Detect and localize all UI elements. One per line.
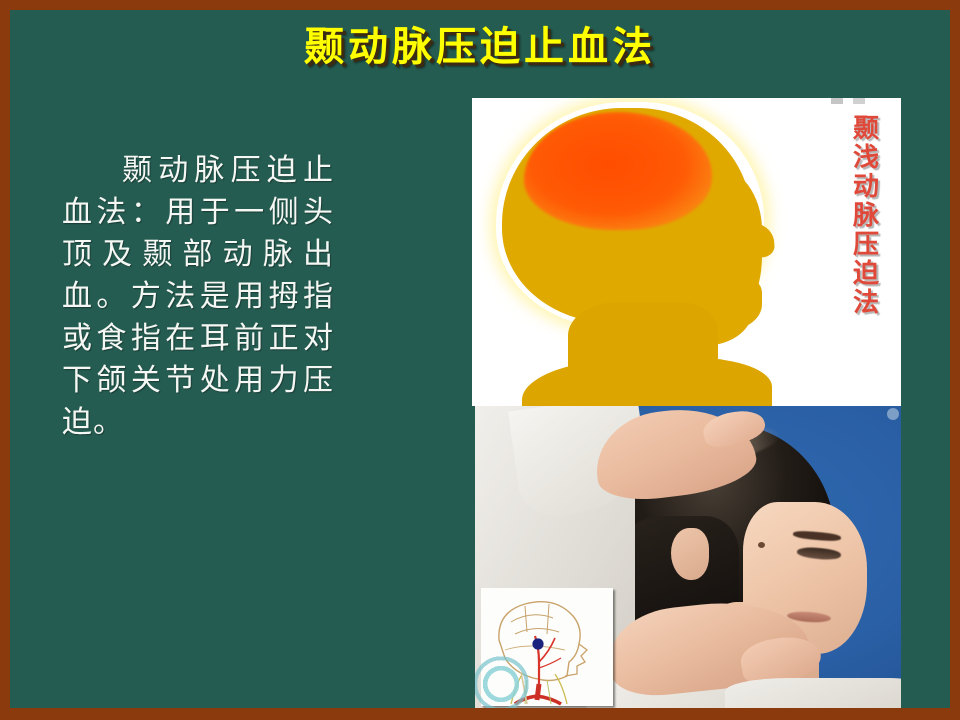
broadcast-logo	[475, 656, 529, 708]
vertical-caption-char-7: 法	[849, 288, 883, 317]
body-paragraph: 颞动脉压迫止血法：用于一侧头顶及颞部动脉出血。方法是用拇指或食指在耳前正对下颌关…	[62, 150, 334, 444]
head-silhouette	[502, 106, 772, 406]
lips-shape	[728, 262, 758, 288]
head-diagram-image: 颞 浅 动 脉 压 迫 法	[472, 98, 901, 406]
shoulder-shape	[522, 358, 772, 406]
slide-canvas: 颞动脉压迫止血法 颞动脉压迫止血法：用于一侧头顶及颞部动脉出血。方法是用拇指或食…	[10, 10, 950, 708]
vertical-caption-char-5: 压	[849, 230, 883, 259]
nose-shape	[731, 221, 775, 260]
scan-artifact-marks	[831, 98, 883, 104]
vertical-caption-char-4: 脉	[849, 201, 883, 230]
vertical-caption-char-6: 迫	[849, 259, 883, 288]
corner-artifact	[887, 408, 899, 420]
vertical-caption: 颞 浅 动 脉 压 迫 法	[849, 114, 883, 317]
subject-ear	[671, 528, 709, 580]
subject-mole	[758, 542, 765, 548]
subject-shirt	[725, 678, 901, 708]
demonstration-photo	[475, 406, 901, 708]
slide-frame: 颞动脉压迫止血法 颞动脉压迫止血法：用于一侧头顶及颞部动脉出血。方法是用拇指或食…	[0, 0, 960, 720]
vertical-caption-char-1: 颞	[849, 114, 883, 143]
vertical-caption-char-3: 动	[849, 172, 883, 201]
pressure-point-marker	[532, 638, 543, 649]
vertical-caption-char-2: 浅	[849, 143, 883, 172]
page-title: 颞动脉压迫止血法	[10, 24, 950, 70]
